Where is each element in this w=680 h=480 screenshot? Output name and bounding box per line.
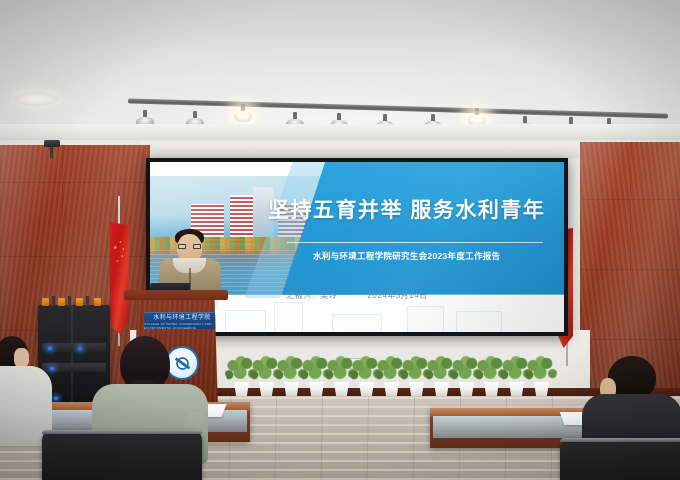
podium-surface — [124, 290, 228, 300]
plant-row — [228, 352, 558, 396]
conference-room-photo: ★ ★ ★ ★ ★ 坚持五育并举 服务水利青年 水利与环境工程学院研究生会202… — [0, 0, 680, 480]
ceiling-camera-icon — [44, 140, 60, 152]
led-indicator — [54, 397, 58, 400]
slide-title-rule — [287, 242, 544, 243]
potted-plant — [528, 354, 554, 396]
av-controls[interactable] — [40, 296, 108, 308]
podium-plaque-en: COLLEGE OF WATER CONSERVANCY AND ENVIRON… — [144, 322, 220, 330]
chair-left[interactable] — [42, 430, 202, 480]
attendee-face — [14, 348, 29, 368]
chair-right[interactable] — [560, 438, 680, 480]
podium-plaque: 水利与环境工程学院 COLLEGE OF WATER CONSERVANCY A… — [144, 312, 220, 329]
slide-subtitle: 水利与环境工程学院研究生会2023年度工作报告 — [262, 250, 552, 262]
podium-plaque-cn: 水利与环境工程学院 — [153, 312, 211, 321]
national-flag-left: ★ ★ ★ ★ ★ — [110, 222, 129, 334]
wall-upper-strip — [140, 142, 590, 158]
recessed-light — [14, 92, 58, 106]
glasses-icon — [178, 244, 201, 249]
led-indicator — [78, 347, 82, 350]
spotlight-lit — [234, 104, 252, 124]
slide-main-title: 坚持五育并举 服务水利青年 — [262, 194, 552, 224]
